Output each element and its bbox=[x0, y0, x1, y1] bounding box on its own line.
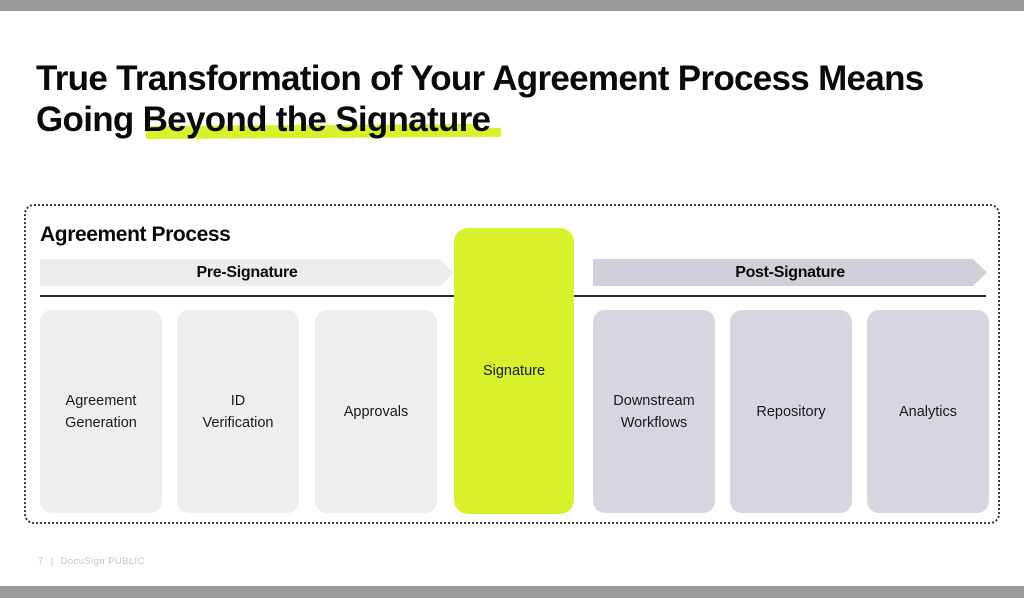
slide-title-block: True Transformation of Your Agreement Pr… bbox=[36, 58, 996, 140]
stage-card-repository: Repository bbox=[730, 310, 852, 513]
stage-card-analytics: Analytics bbox=[867, 310, 989, 513]
stage-card-signature: Signature bbox=[454, 228, 574, 514]
top-letterbox-bar bbox=[0, 0, 1024, 11]
divider-rule-post bbox=[574, 295, 986, 297]
stage-card-label: Downstream Workflows bbox=[613, 390, 694, 434]
diagram-title: Agreement Process bbox=[40, 223, 230, 247]
stage-card-id-verification: ID Verification bbox=[177, 310, 299, 513]
stage-card-agreement-generation: Agreement Generation bbox=[40, 310, 162, 513]
slide-canvas: True Transformation of Your Agreement Pr… bbox=[0, 0, 1024, 598]
title-line-2-text: Going Beyond the Signature bbox=[36, 100, 490, 139]
stage-card-label: Signature bbox=[483, 360, 545, 382]
slide-footer: 7 | DocuSign PUBLIC bbox=[38, 556, 145, 567]
stage-card-label: Analytics bbox=[899, 401, 957, 423]
stage-card-downstream-workflows: Downstream Workflows bbox=[593, 310, 715, 513]
footer-separator: | bbox=[51, 556, 54, 567]
agreement-process-diagram: Agreement Process Pre-Signature Post-Sig… bbox=[24, 204, 1000, 524]
title-line-2-wrapper: Going Beyond the Signature bbox=[36, 99, 996, 140]
phase-banner-pre-signature: Pre-Signature bbox=[40, 259, 454, 286]
stage-card-label: Repository bbox=[756, 401, 825, 423]
stage-card-label: Approvals bbox=[344, 401, 408, 423]
title-line-2: Going Beyond the Signature bbox=[36, 99, 490, 140]
divider-rule-pre bbox=[40, 295, 474, 297]
phase-banner-post-signature: Post-Signature bbox=[593, 259, 987, 286]
stage-card-approvals: Approvals bbox=[315, 310, 437, 513]
title-line-1: True Transformation of Your Agreement Pr… bbox=[36, 58, 996, 99]
footer-classification: DocuSign PUBLIC bbox=[61, 556, 145, 567]
stage-card-label: Agreement Generation bbox=[65, 390, 137, 434]
stage-card-label: ID Verification bbox=[203, 390, 274, 434]
footer-page-number: 7 bbox=[38, 556, 44, 567]
bottom-letterbox-bar bbox=[0, 586, 1024, 598]
